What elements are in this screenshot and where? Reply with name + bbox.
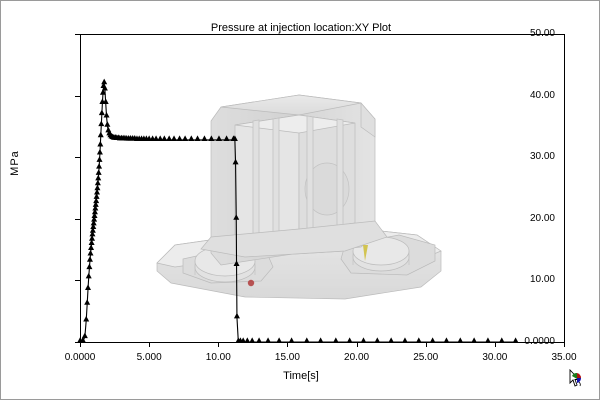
- x-axis-tick: [149, 342, 150, 347]
- x-axis-tick-label: 25.00: [413, 352, 438, 363]
- y-axis-tick-label: 10.00: [495, 274, 555, 285]
- axis-left: [80, 34, 81, 343]
- axis-right: [564, 34, 565, 343]
- y-axis-tick: [75, 157, 80, 158]
- x-axis-tick: [564, 342, 565, 347]
- y-axis-tick-label: 20.00: [495, 213, 555, 224]
- y-axis-tick-label: 0.0000: [495, 336, 555, 347]
- x-axis-tick: [495, 342, 496, 347]
- x-axis-tick: [357, 342, 358, 347]
- x-axis-tick-label: 0.0000: [65, 352, 96, 363]
- y-axis-tick: [75, 96, 80, 97]
- y-axis-tick: [75, 280, 80, 281]
- x-axis-tick: [80, 342, 81, 347]
- y-axis-tick-label: 30.00: [495, 151, 555, 162]
- x-axis-tick-label: 5.000: [137, 352, 162, 363]
- x-axis-label: Time[s]: [1, 370, 600, 382]
- x-axis-tick-label: 30.00: [482, 352, 507, 363]
- x-axis-tick-label: 10.00: [206, 352, 231, 363]
- x-axis-tick: [218, 342, 219, 347]
- x-axis-tick-label: 35.00: [551, 352, 576, 363]
- x-axis-tick: [287, 342, 288, 347]
- axis-top: [80, 34, 565, 35]
- rotate-orbit-cursor-icon: [567, 369, 587, 391]
- y-axis-tick-label: 40.00: [495, 90, 555, 101]
- x-axis-tick-label: 20.00: [344, 352, 369, 363]
- axis-bottom: [80, 342, 565, 343]
- y-axis-tick-label: 50.00: [495, 28, 555, 39]
- plot-frame: 0.000010.0020.0030.0040.0050.00 0.00005.…: [80, 34, 564, 342]
- y-axis-tick: [75, 219, 80, 220]
- y-axis-tick: [75, 34, 80, 35]
- x-axis-tick: [426, 342, 427, 347]
- y-axis-label: MPa: [9, 150, 21, 176]
- xy-plot-window: Pressure at injection location:XY Plot 0…: [0, 0, 600, 400]
- x-axis-tick-label: 15.00: [275, 352, 300, 363]
